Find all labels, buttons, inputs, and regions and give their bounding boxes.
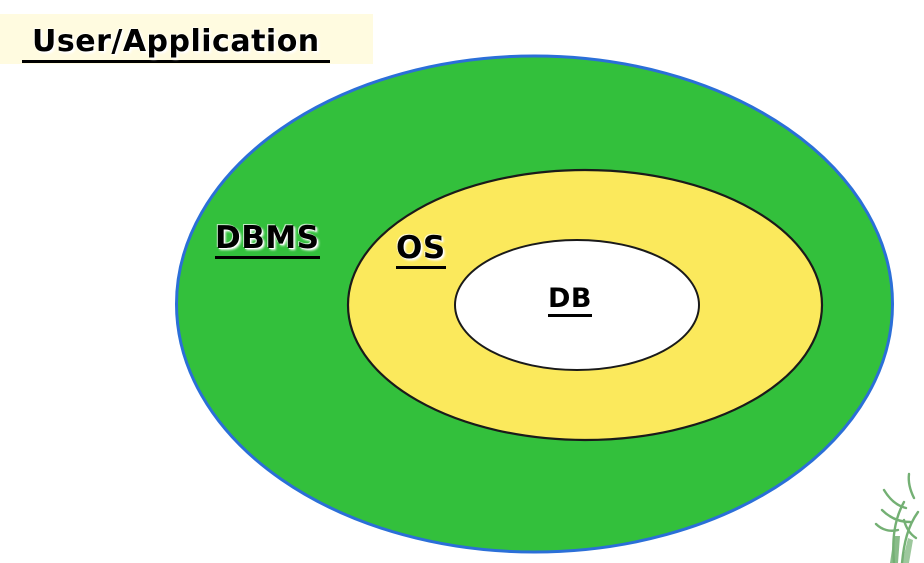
label-os: OS (396, 232, 446, 269)
label-dbms: DBMS (215, 222, 320, 259)
nested-ellipse-diagram (0, 0, 924, 563)
label-user-application: User/Application (22, 22, 330, 63)
diagram-canvas: User/Application DBMS OS DB (0, 0, 924, 563)
label-db: DB (548, 285, 592, 317)
